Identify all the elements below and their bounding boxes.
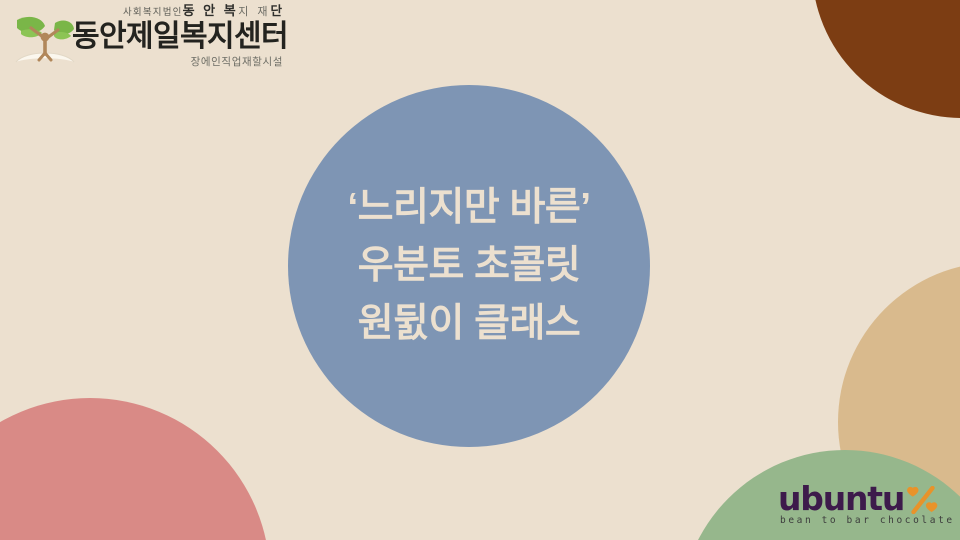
ubuntu-name: ubuntu bbox=[778, 484, 904, 514]
facility-type: 장에인직업재할시설 bbox=[72, 54, 286, 70]
ubuntu-wordmark: ubuntu bbox=[778, 484, 954, 514]
headline-line-2: 우분토 초콜릿 bbox=[358, 237, 581, 295]
heart-percent-icon bbox=[905, 486, 939, 514]
foundation-bold-2: 단 bbox=[270, 4, 284, 18]
organization-logo-text: 사회복지법인동 안 복지 재단 동안제일복지센터 장에인직업재할시설 bbox=[72, 4, 286, 70]
foundation-prefix: 사회복지법인 bbox=[123, 7, 183, 18]
ubuntu-tagline: bean to bar chocolate bbox=[778, 514, 954, 528]
poster-canvas: ‘느리지만 바른’ 우분토 초콜릿 원뒰이 클래스 사회복지법인동 안 복지 bbox=[0, 0, 960, 540]
organization-logo: 사회복지법인동 안 복지 재단 동안제일복지센터 장에인직업재할시설 bbox=[14, 4, 286, 82]
center-name: 동안제일복지센터 bbox=[72, 20, 286, 54]
headline-line-1: ‘느리지만 바른’ bbox=[347, 179, 590, 237]
foundation-thin: 지 재 bbox=[238, 6, 270, 18]
ubuntu-brand-lockup: ubuntu bean to bar chocolate bbox=[778, 484, 954, 532]
rose-circle-bottom-left bbox=[0, 398, 270, 540]
foundation-bold: 동 안 복 bbox=[183, 3, 239, 18]
brown-circle-top-right bbox=[812, 0, 960, 118]
foundation-line: 사회복지법인동 안 복지 재단 bbox=[72, 4, 286, 20]
poster-headline: ‘느리지만 바른’ 우분토 초콜릿 원뒰이 클래스 bbox=[288, 85, 650, 447]
tree-person-logo-icon bbox=[14, 10, 76, 72]
headline-line-3: 원뒰이 클래스 bbox=[358, 295, 581, 353]
